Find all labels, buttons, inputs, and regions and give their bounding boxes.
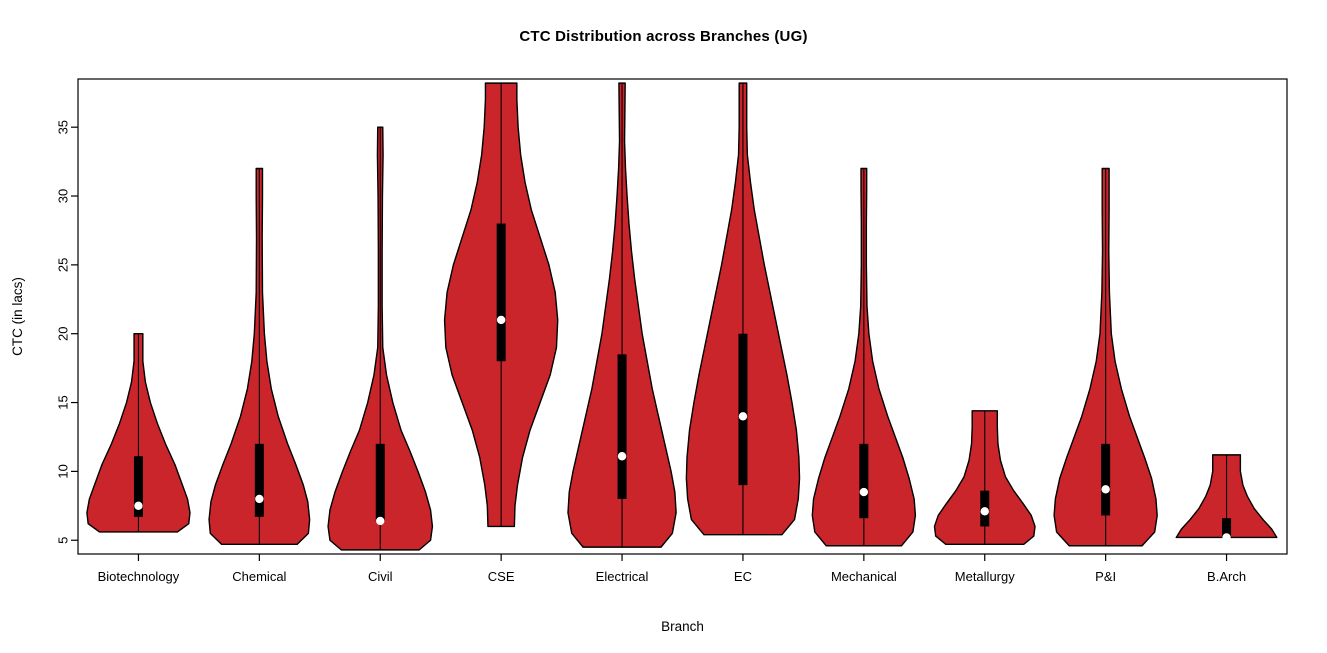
y-tick-label: 25 xyxy=(55,258,70,272)
violin-chemical xyxy=(209,168,310,544)
violin-iqr-box xyxy=(859,444,868,518)
y-tick-label: 15 xyxy=(55,395,70,409)
violin-median-point xyxy=(618,452,626,460)
violin-civil xyxy=(328,127,432,550)
violin-iqr-box xyxy=(738,334,747,485)
violin-iqr-box xyxy=(618,354,627,499)
violin-median-point xyxy=(255,495,263,503)
violin-iqr-box xyxy=(1101,444,1110,516)
y-axis-title: CTC (in lacs) xyxy=(10,277,25,356)
violin-metallurgy xyxy=(934,411,1035,545)
violin-plot-page: CTC Distribution across Branches (UG) 51… xyxy=(0,0,1327,653)
violin-median-point xyxy=(1101,485,1109,493)
violin-biotechnology xyxy=(87,334,190,532)
x-tick-label: Chemical xyxy=(232,569,286,584)
x-tick-label: Civil xyxy=(368,569,393,584)
violin-p-i xyxy=(1054,168,1157,545)
violin-median-point xyxy=(1222,533,1230,541)
violin-cse xyxy=(445,83,558,526)
x-tick-label: Biotechnology xyxy=(98,569,180,584)
violin-iqr-box xyxy=(255,444,264,517)
violin-electrical xyxy=(568,83,676,547)
y-tick-label: 30 xyxy=(55,189,70,203)
violin-b-arch xyxy=(1176,455,1277,542)
violin-median-point xyxy=(739,412,747,420)
violin-chart: 5101520253035BiotechnologyChemicalCivilC… xyxy=(0,0,1327,653)
x-tick-label: P&I xyxy=(1095,569,1116,584)
x-axis-title: Branch xyxy=(661,619,704,634)
x-tick-label: Electrical xyxy=(596,569,649,584)
violin-iqr-box xyxy=(497,224,506,362)
violin-median-point xyxy=(860,488,868,496)
violin-median-point xyxy=(134,502,142,510)
x-tick-label: Metallurgy xyxy=(955,569,1015,584)
violin-mechanical xyxy=(812,168,915,545)
y-tick-label: 35 xyxy=(55,120,70,134)
y-tick-label: 20 xyxy=(55,326,70,340)
violins-layer xyxy=(87,83,1277,550)
x-tick-label: B.Arch xyxy=(1207,569,1246,584)
violin-ec xyxy=(686,83,799,535)
violin-median-point xyxy=(376,517,384,525)
x-tick-label: EC xyxy=(734,569,752,584)
violin-median-point xyxy=(981,507,989,515)
y-tick-label: 10 xyxy=(55,464,70,478)
y-tick-label: 5 xyxy=(55,537,70,544)
violin-median-point xyxy=(497,316,505,324)
x-tick-label: CSE xyxy=(488,569,515,584)
x-tick-label: Mechanical xyxy=(831,569,897,584)
violin-iqr-box xyxy=(376,444,385,521)
